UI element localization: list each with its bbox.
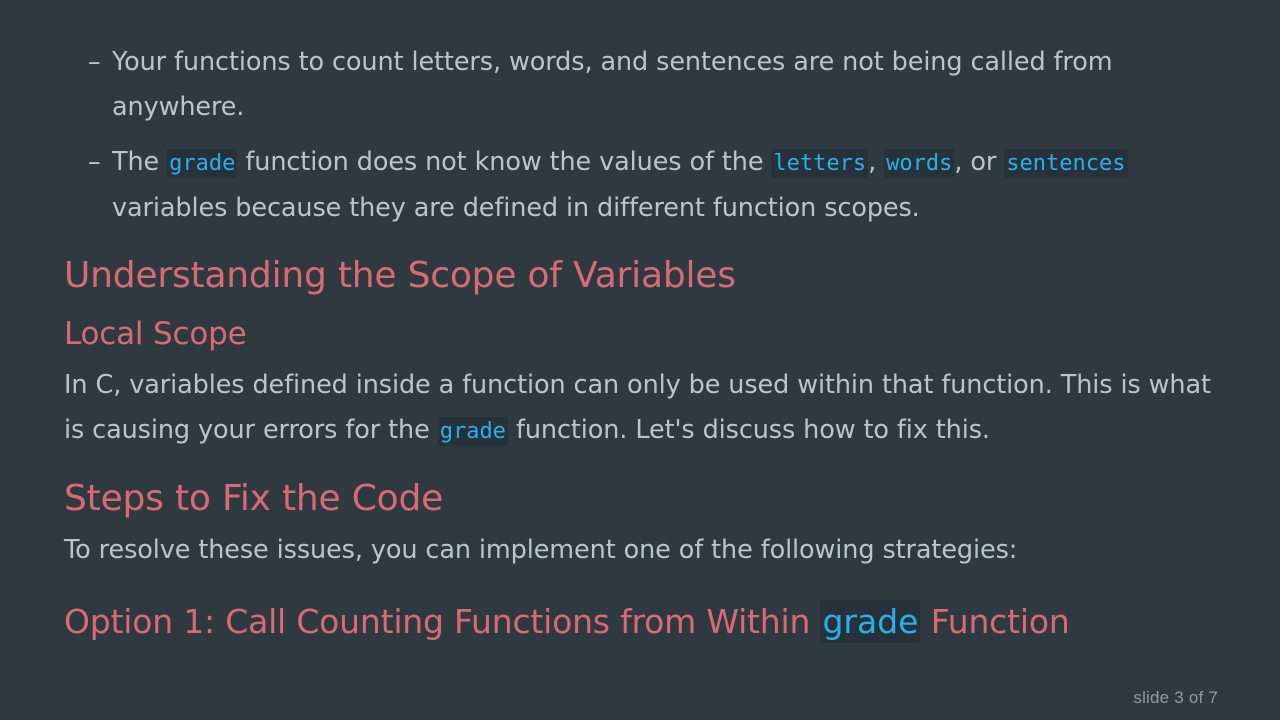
code-token-grade: grade	[167, 149, 237, 178]
paragraph-segment: function. Let's discuss how to fix this.	[508, 415, 990, 445]
heading-segment: Function	[920, 602, 1069, 641]
bullet-dash-icon: –	[88, 140, 101, 185]
heading-segment: Option 1: Call Counting Functions from W…	[64, 602, 820, 641]
bullet-text-segment: , or	[954, 147, 1004, 177]
bullet-dash-icon: –	[88, 40, 101, 85]
bullet-text: Your functions to count letters, words, …	[112, 47, 1113, 122]
bullet-text-segment: variables because they are defined in di…	[112, 193, 920, 223]
code-token-sentences: sentences	[1004, 149, 1127, 178]
list-item: – Your functions to count letters, words…	[64, 40, 1216, 130]
bullet-text-segment: ,	[868, 147, 884, 177]
heading-option-1: Option 1: Call Counting Functions from W…	[64, 599, 1216, 645]
code-token-grade: grade	[820, 600, 920, 643]
slide-canvas: – Your functions to count letters, words…	[0, 0, 1280, 720]
slide-counter: slide 3 of 7	[1133, 688, 1218, 708]
code-token-words: words	[884, 149, 954, 178]
list-item: – The grade function does not know the v…	[64, 140, 1216, 231]
paragraph-steps: To resolve these issues, you can impleme…	[64, 528, 1214, 573]
heading-local-scope: Local Scope	[64, 313, 1216, 355]
bullet-list: – Your functions to count letters, words…	[64, 40, 1216, 231]
code-token-letters: letters	[771, 149, 868, 178]
heading-understanding-scope: Understanding the Scope of Variables	[64, 253, 1216, 299]
heading-steps-to-fix: Steps to Fix the Code	[64, 476, 1216, 522]
code-token-grade: grade	[438, 417, 508, 446]
paragraph-local-scope: In C, variables defined inside a functio…	[64, 363, 1214, 454]
bullet-text-segment: The	[112, 147, 167, 177]
bullet-text-segment: function does not know the values of the	[237, 147, 771, 177]
